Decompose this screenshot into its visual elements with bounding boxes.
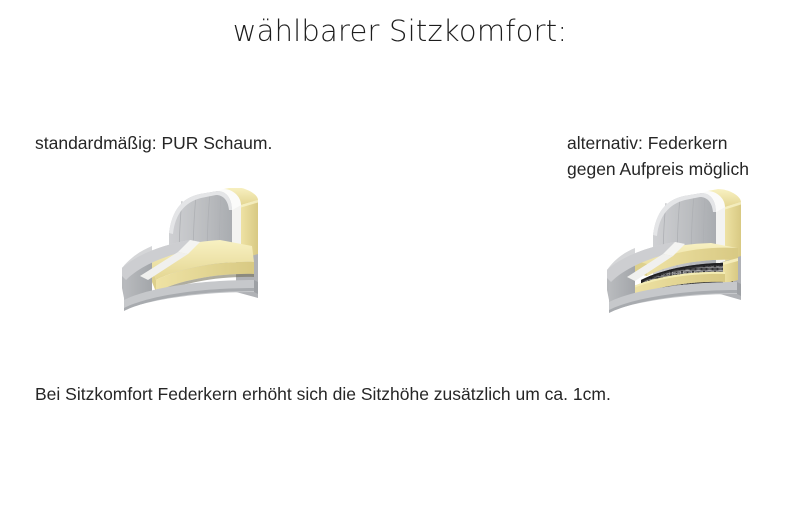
page-title: wählbarer Sitzkomfort: [0, 14, 800, 48]
product-info-graphic: wählbarer Sitzkomfort: standardmäßig: PU… [0, 0, 800, 518]
footnote-text: Bei Sitzkomfort Federkern erhöht sich di… [35, 384, 611, 405]
option-label-spring-core: alternativ: Federkern gegen Aufpreis mög… [567, 130, 749, 182]
sofa-cutaway-spring-core [605, 188, 760, 318]
sofa-cutaway-pur-foam [108, 188, 288, 318]
option-label-pur-foam: standardmäßig: PUR Schaum. [35, 130, 272, 156]
